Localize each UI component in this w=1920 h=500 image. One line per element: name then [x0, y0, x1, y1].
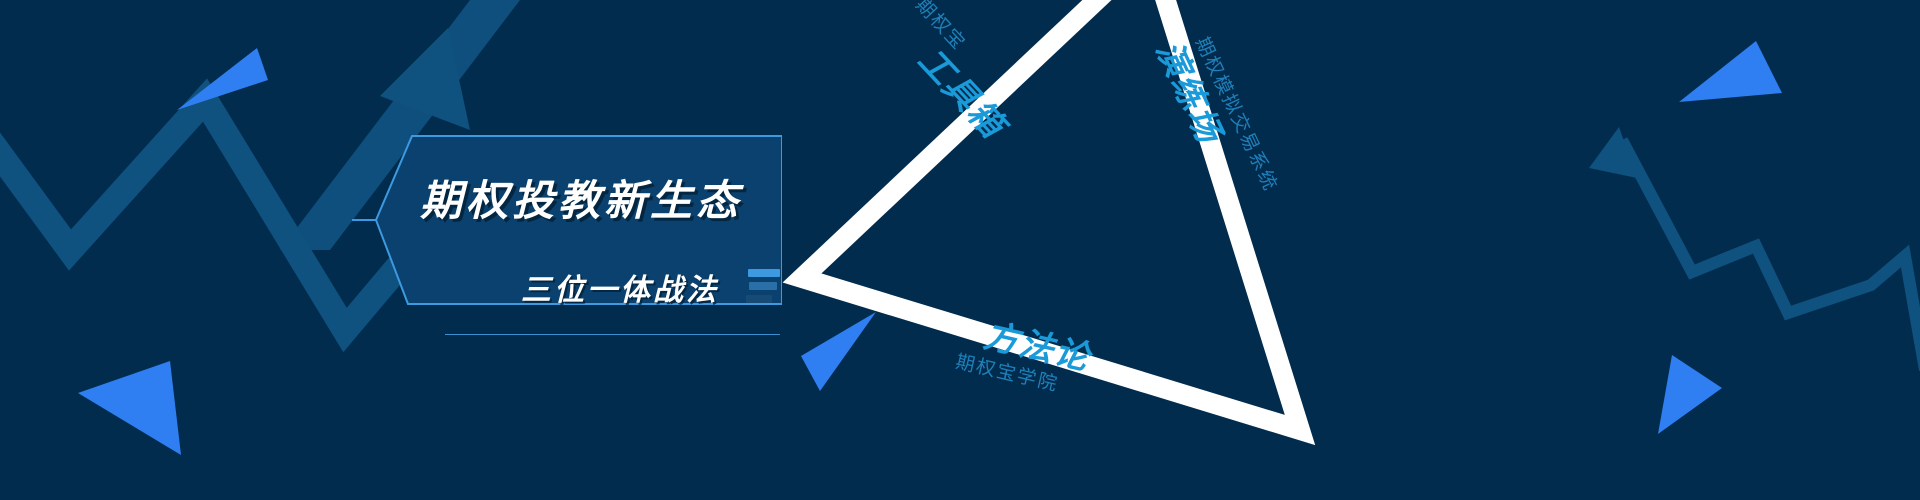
promo-banner: 期权宝 工具箱 期权模拟交易系统 演练场 方法论 期权宝学院 期权投教新生态 三… — [0, 0, 1920, 500]
three-pillar-triangle: 期权宝 工具箱 期权模拟交易系统 演练场 方法论 期权宝学院 — [760, 0, 1380, 500]
subtitle-text: 三位一体战法 — [521, 265, 719, 309]
bar-top-icon — [748, 269, 780, 277]
zigzag-arrow-right — [1622, 140, 1920, 370]
three-bars-icon — [738, 269, 780, 303]
subtitle-underline — [445, 334, 780, 335]
accent-triangle-bottom-left — [78, 361, 181, 455]
accent-triangle-bottom-right — [1658, 355, 1722, 434]
subtitle-block: 三位一体战法 — [445, 255, 780, 335]
bar-bottom-icon — [746, 295, 772, 303]
triangle-outline — [760, 0, 1380, 500]
page-title: 期权投教新生态 — [420, 180, 760, 222]
accent-triangle-top-right — [1679, 41, 1782, 102]
accent-triangle-top-left — [177, 48, 268, 110]
bar-middle-icon — [749, 282, 777, 290]
